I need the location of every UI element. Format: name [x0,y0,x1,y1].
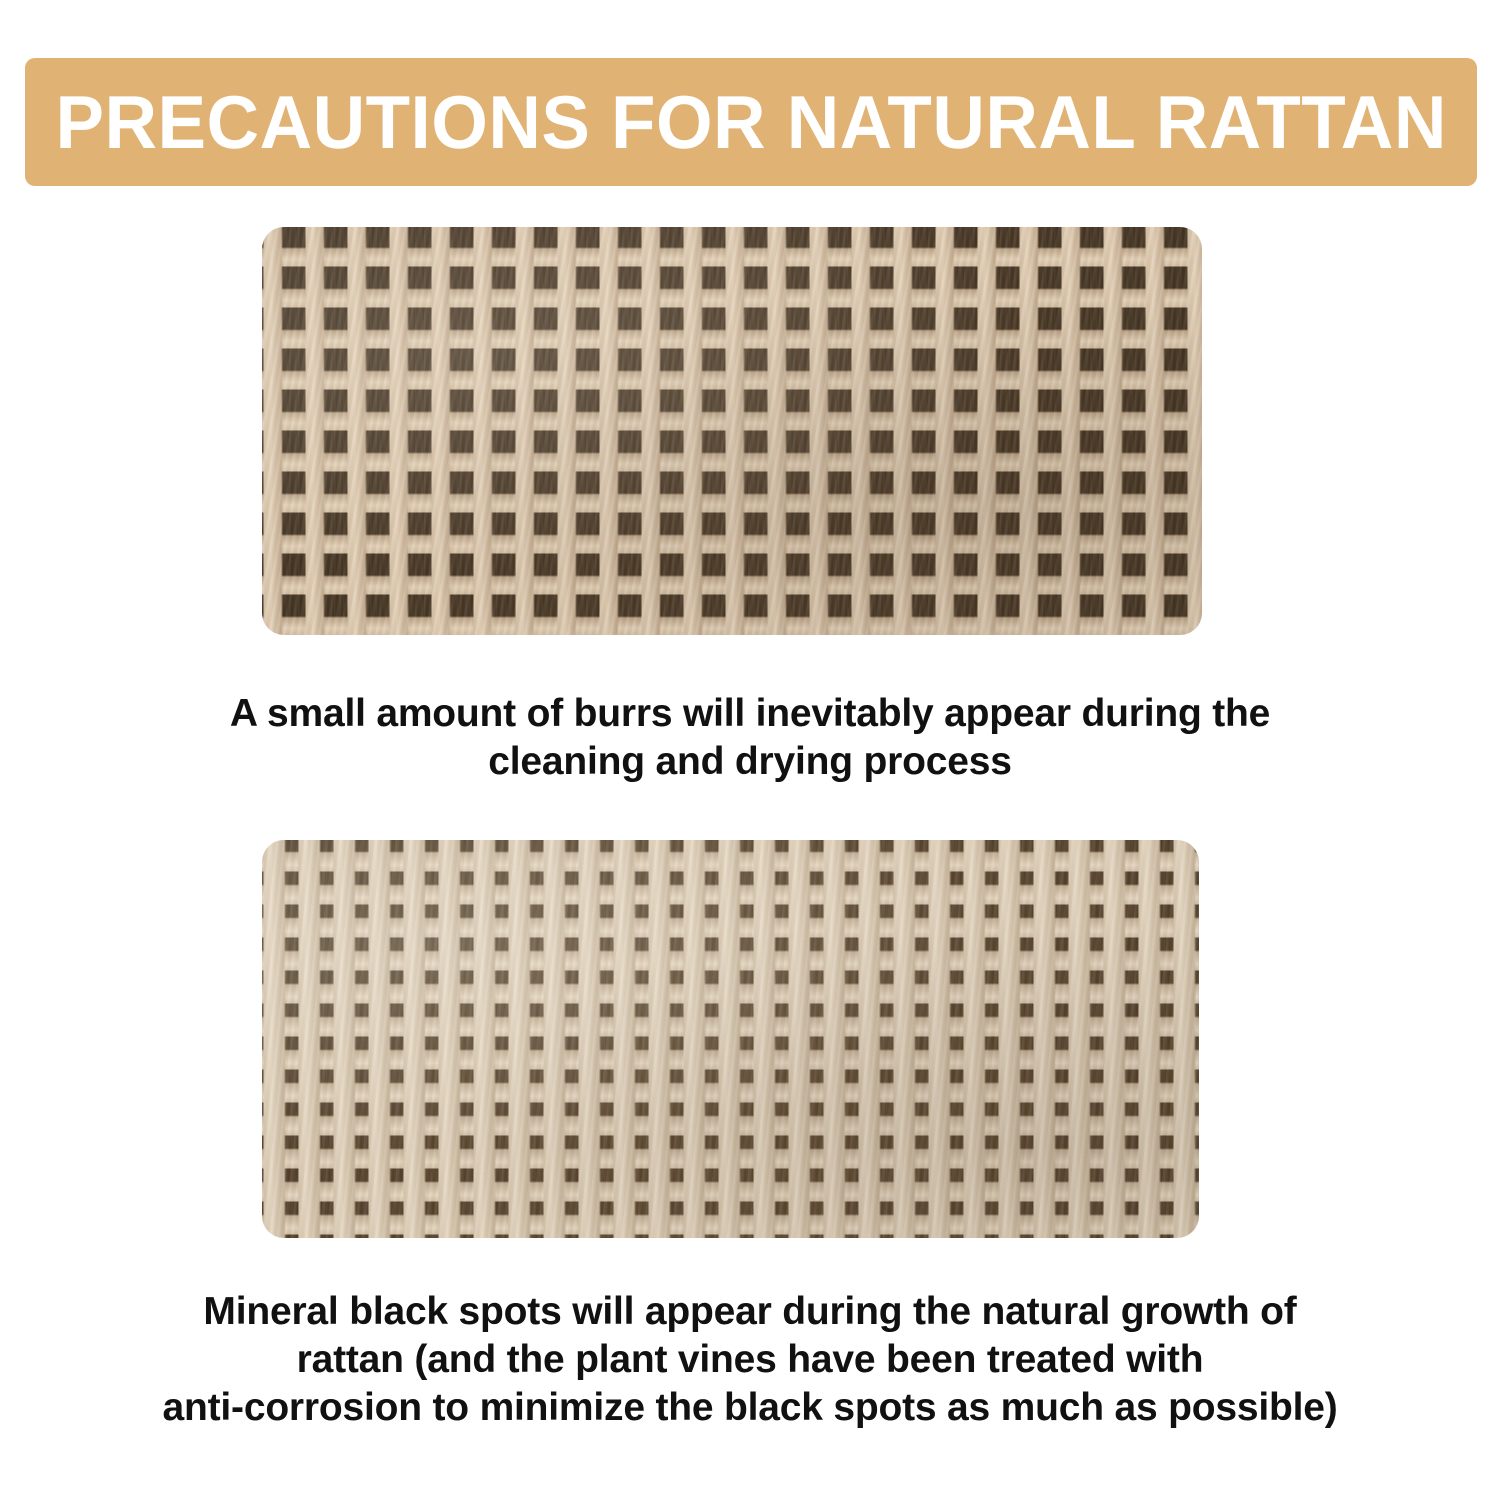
page-title: PRECAUTIONS FOR NATURAL RATTAN [55,85,1446,160]
caption-burrs: A small amount of burrs will inevitably … [0,690,1500,786]
header-banner: PRECAUTIONS FOR NATURAL RATTAN [25,58,1477,186]
caption-mineral-black-spots: Mineral black spots will appear during t… [0,1288,1500,1432]
infographic-page: PRECAUTIONS FOR NATURAL RATTAN A small a… [0,0,1500,1500]
rattan-weave-image-fine [262,840,1199,1238]
rattan-weave-image-coarse [262,227,1202,635]
